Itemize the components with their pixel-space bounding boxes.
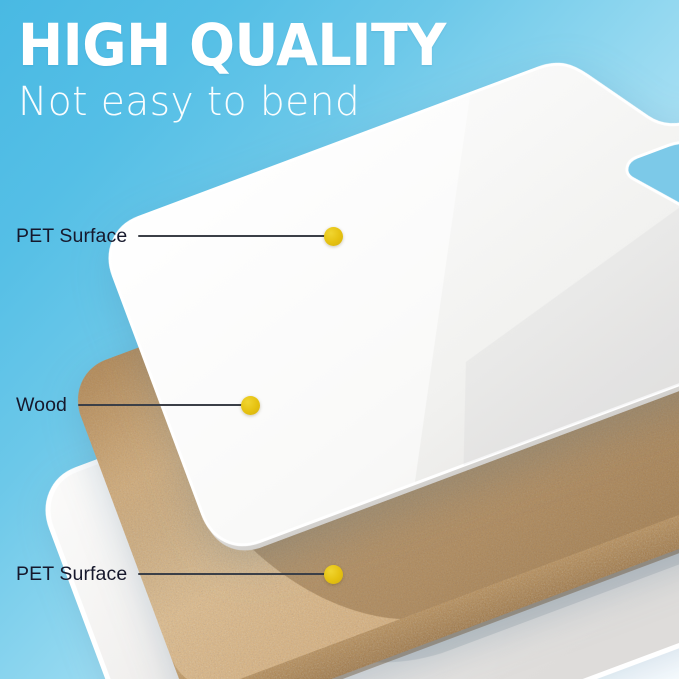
- callout-dot-pet-top: [324, 227, 343, 246]
- callout-pet-surface-top: PET Surface: [16, 223, 343, 249]
- callout-dot-wood: [241, 396, 260, 415]
- infographic-canvas: HIGH QUALITY Not easy to bend: [0, 0, 679, 679]
- callout-group: PET Surface Wood PET Surface: [0, 0, 679, 679]
- callout-wood: Wood: [16, 392, 260, 418]
- leader-line-pet-bottom: [138, 573, 326, 575]
- callout-label-wood: Wood: [16, 392, 67, 418]
- callout-label-pet-surface-bottom: PET Surface: [16, 561, 127, 587]
- callout-label-pet-surface-top: PET Surface: [16, 223, 127, 249]
- callout-pet-surface-bottom: PET Surface: [16, 561, 343, 587]
- leader-line-wood: [78, 404, 243, 406]
- callout-dot-pet-bottom: [324, 565, 343, 584]
- leader-line-pet-top: [138, 235, 326, 237]
